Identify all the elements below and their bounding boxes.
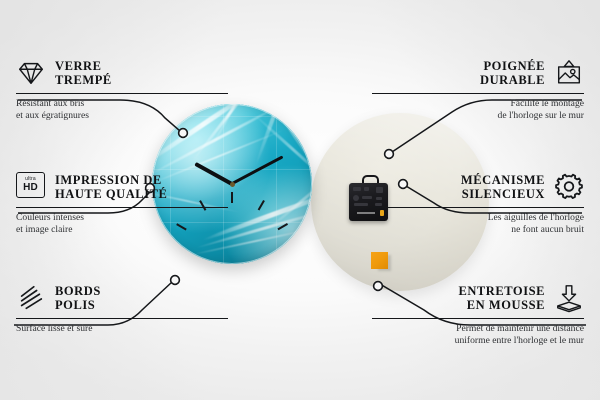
feature-callout-mecanisme-silencieux: MÉCANISMESILENCIEUX Les aiguilles de l'h… — [372, 170, 584, 235]
feature-description: Facilite le montage de l'horloge sur le … — [372, 98, 584, 121]
feature-divider — [372, 207, 584, 208]
gear-icon — [554, 172, 584, 202]
feature-title: BORDSPOLIS — [55, 284, 101, 312]
feature-title: MÉCANISMESILENCIEUX — [461, 173, 545, 201]
feature-callout-entretoise-en-mousse: ENTRETOISEEN MOUSSE Permet de maintenir … — [372, 281, 584, 346]
foam-spacer-icon — [554, 283, 584, 313]
feature-description: Couleurs intenses et image claire — [16, 212, 228, 235]
feature-title: ENTRETOISEEN MOUSSE — [458, 284, 545, 312]
feature-description: Résistant aux bris et aux égratignures — [16, 98, 228, 121]
diamond-icon — [16, 58, 46, 88]
feature-title: POIGNÉEDURABLE — [480, 59, 545, 87]
hour-marker — [285, 255, 296, 257]
feature-title: VERRETREMPÉ — [55, 59, 112, 87]
feature-description: Permet de maintenir une distance uniform… — [372, 323, 584, 346]
feature-title: IMPRESSION DEHAUTE QUALITÉ — [55, 173, 167, 201]
feature-callout-bords-polis: BORDSPOLIS Surface lisse et sûre — [16, 281, 228, 335]
feature-divider — [372, 93, 584, 94]
foam-spacer — [371, 252, 388, 269]
polished-edges-icon — [16, 283, 46, 313]
feature-divider — [16, 207, 228, 208]
feature-description: Les aiguilles de l'horloge ne font aucun… — [372, 212, 584, 235]
feature-divider — [16, 318, 228, 319]
feature-description: Surface lisse et sûre — [16, 323, 228, 334]
feature-callout-verre-trempe: VERRETREMPÉ Résistant aux bris et aux ég… — [16, 56, 228, 121]
feature-callout-poignee-durable: POIGNÉEDURABLE Facilite le montage de l'… — [372, 56, 584, 121]
feature-divider — [372, 318, 584, 319]
hour-marker — [168, 255, 179, 257]
picture-hanger-icon — [554, 58, 584, 88]
feature-divider — [16, 93, 228, 94]
ultra-hd-badge-icon: ultra HD — [16, 172, 46, 202]
infographic-canvas: VERRETREMPÉ Résistant aux bris et aux ég… — [0, 0, 600, 400]
badge-main-label: HD — [23, 183, 38, 193]
feature-callout-impression-haute-qualite: ultra HD IMPRESSION DEHAUTE QUALITÉ Coul… — [16, 170, 228, 235]
